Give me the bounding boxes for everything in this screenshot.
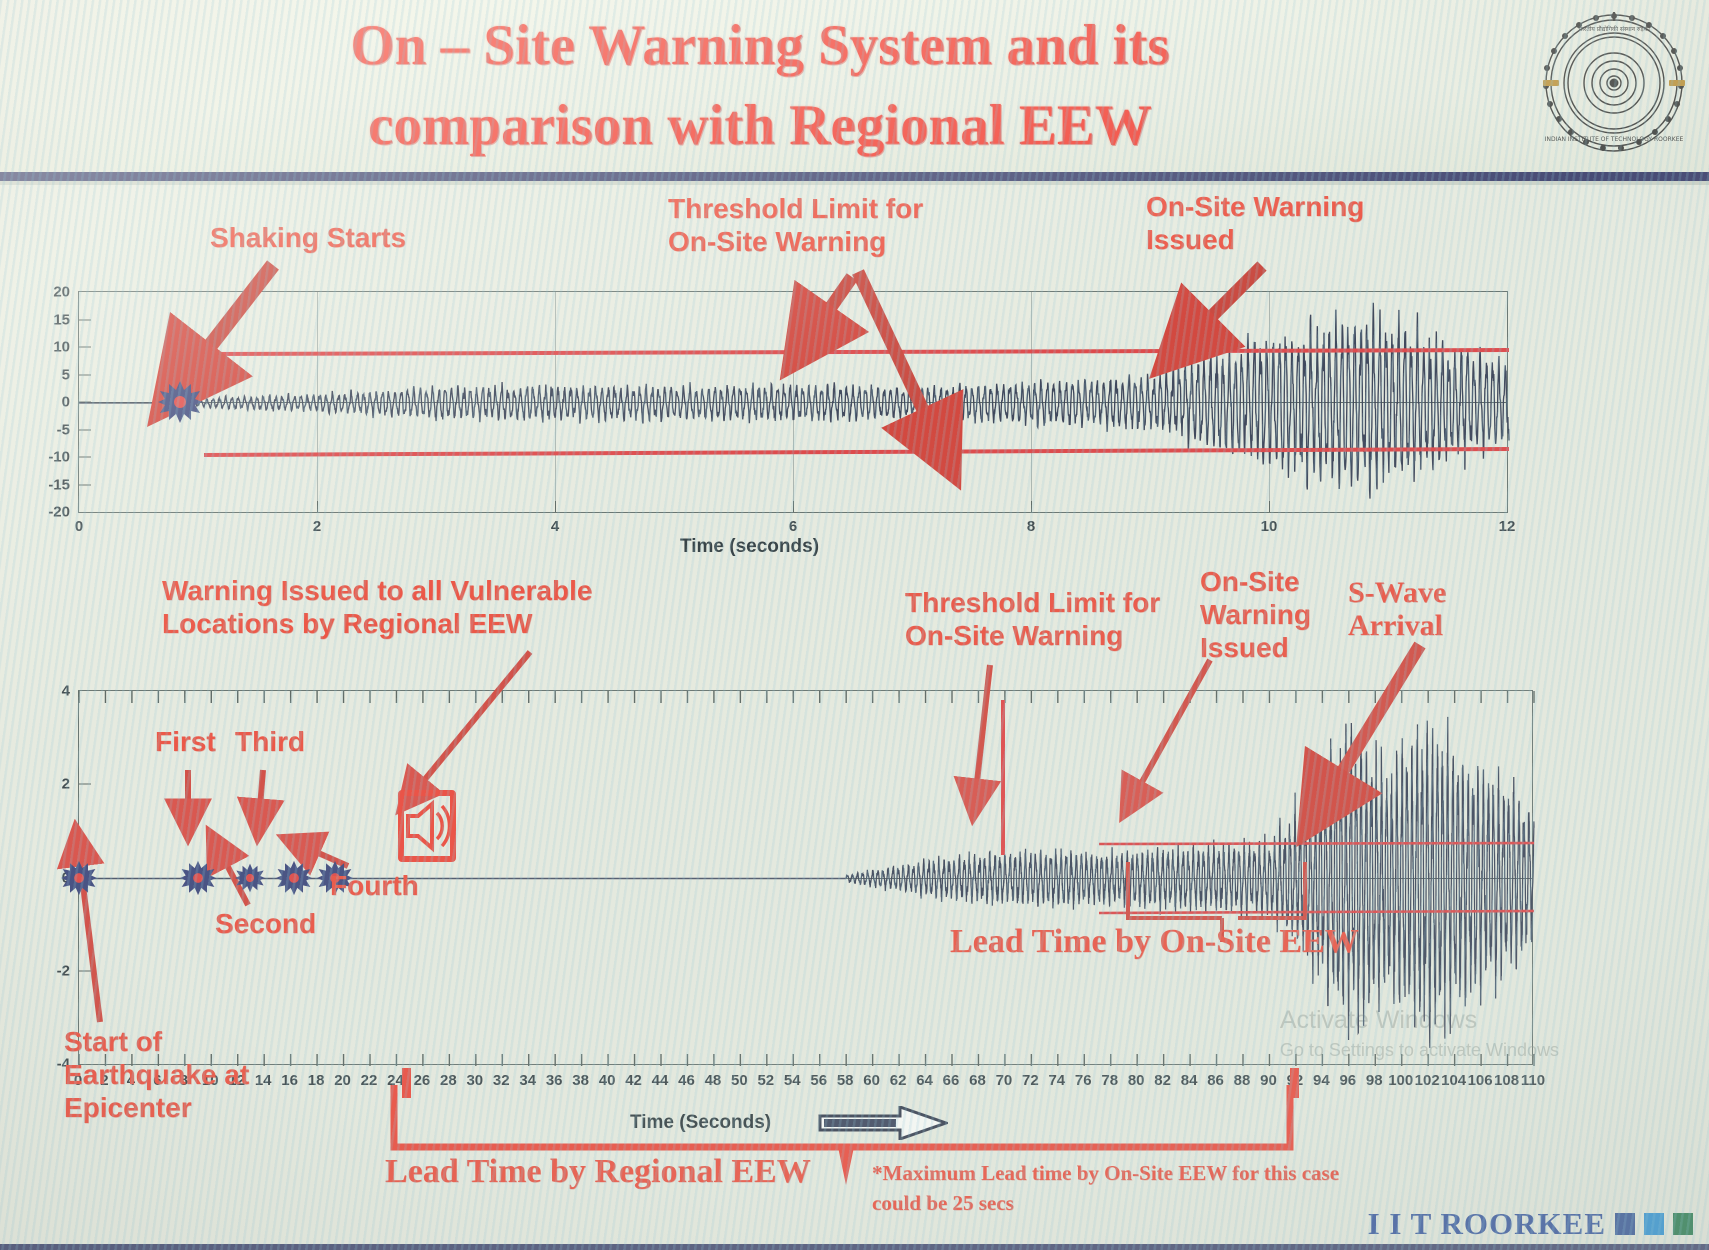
header-divider-light <box>0 181 1709 185</box>
annotation-first: First <box>155 725 216 758</box>
annotation-start-of-earthquake: Start of Earthquake at Epicenter <box>64 1025 249 1124</box>
slide-canvas: On – Site Warning System and its compari… <box>0 0 1709 1250</box>
annotation-regional-eew-warning: Warning Issued to all Vulnerable Locatio… <box>162 574 682 640</box>
footer-square-1 <box>1615 1213 1635 1235</box>
annotation-threshold-limit-top: Threshold Limit for On-Site Warning <box>668 192 923 258</box>
footer-brand: I I T ROORKEE <box>1368 1206 1693 1242</box>
burst-second-icon <box>235 863 265 893</box>
annotation-lead-time-regional: Lead Time by Regional EEW <box>385 1155 811 1188</box>
warning-broadcast-icon <box>398 790 456 862</box>
footer-brand-label: I I T ROORKEE <box>1368 1206 1606 1242</box>
annotation-onsite-warning-issued-bottom: On-Site Warning Issued <box>1200 565 1330 664</box>
footer-divider <box>0 1244 1709 1250</box>
footer-square-2 <box>1644 1213 1664 1235</box>
header-divider <box>0 172 1709 181</box>
annotation-max-lead-time-note: *Maximum Lead time by On-Site EEW for th… <box>872 1158 1432 1218</box>
shaking-start-burst-icon <box>158 380 202 424</box>
burst-epicenter-icon <box>61 860 97 896</box>
annotation-threshold-limit-bottom: Threshold Limit for On-Site Warning <box>905 586 1180 652</box>
time-direction-arrow-icon <box>818 1106 948 1140</box>
annotation-shaking-starts: Shaking Starts <box>210 221 406 254</box>
burst-third-icon <box>276 860 312 896</box>
footer-square-3 <box>1673 1213 1693 1235</box>
annotation-second: Second <box>215 907 316 940</box>
annotation-fourth: Fourth <box>330 869 419 902</box>
annotation-s-wave-arrival: S-Wave Arrival <box>1348 576 1498 642</box>
annotation-onsite-warning-issued-top: On-Site Warning Issued <box>1146 190 1364 256</box>
burst-first-icon <box>180 860 216 896</box>
annotation-lead-time-onsite: Lead Time by On-Site EEW <box>950 925 1359 958</box>
annotation-third: Third <box>235 725 305 758</box>
